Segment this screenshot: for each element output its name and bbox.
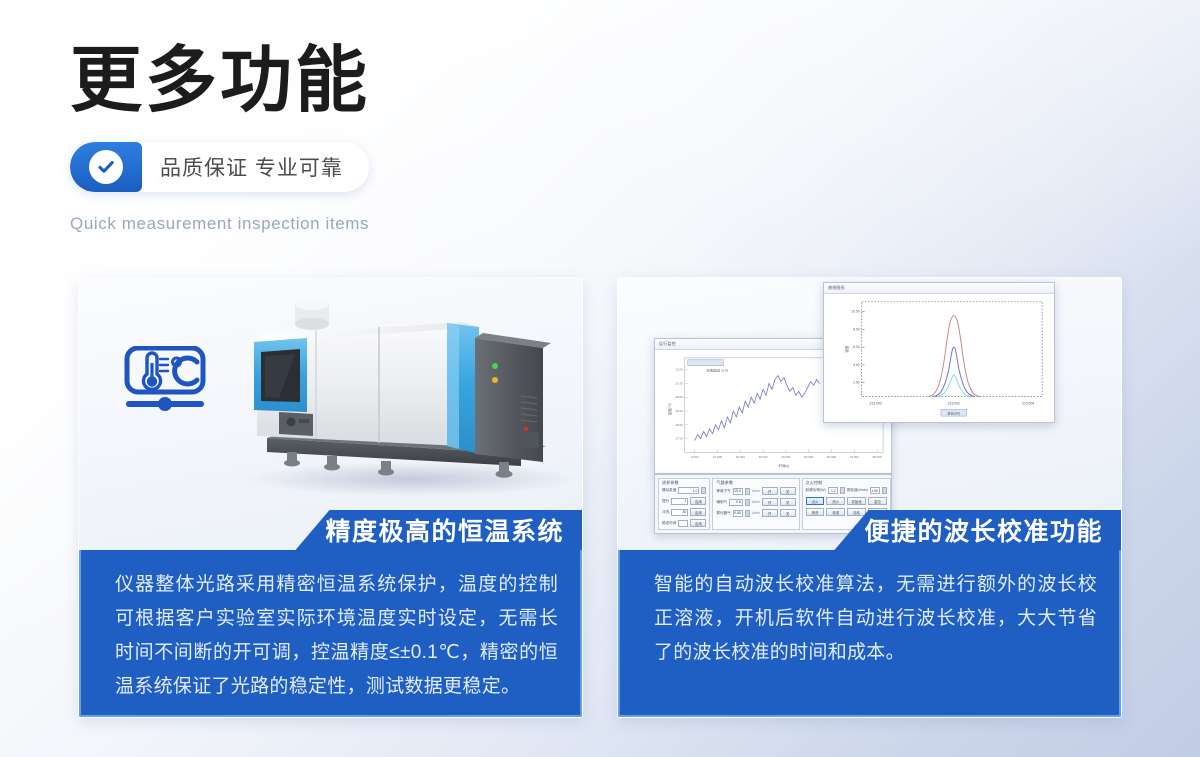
svg-text:20.00: 20.00 [675, 395, 683, 399]
svg-text:18.00: 18.00 [675, 423, 683, 427]
svg-text:2.00: 2.00 [853, 381, 860, 385]
svg-text:10.00: 10.00 [851, 310, 860, 314]
card-media-instrument [79, 278, 582, 510]
param-label: 蠕动泵速 [662, 488, 676, 493]
spinner-icon[interactable] [745, 499, 750, 506]
page-subtitle: Quick measurement inspection items [70, 214, 370, 234]
card-title-bar: 精度极高的恒温系统 [79, 510, 582, 550]
param-input[interactable]: 15.0 [733, 488, 743, 495]
feature-card-wavelength-calibration[interactable]: 运行监控 [617, 277, 1122, 718]
card-title-tab: 便捷的波长校准功能 [834, 510, 1121, 550]
param-unit: L/min [752, 489, 760, 493]
card-description: 智能的自动波长校准算法，无需进行额外的波长校正溶液，开机后软件自动进行波长校准，… [654, 568, 1097, 670]
svg-text:70.000: 70.000 [850, 455, 859, 459]
param-input[interactable]: 1.0 [678, 487, 699, 494]
spinner-icon[interactable] [745, 488, 750, 495]
card-title: 精度极高的恒温系统 [325, 512, 564, 548]
extinguish-button[interactable]: 熄火 [826, 497, 845, 505]
ignite-button[interactable]: 点火 [806, 497, 825, 505]
param-label: 泵转速(r/min) [847, 488, 868, 493]
param-input[interactable]: 1.2 [828, 487, 838, 494]
reset-button[interactable]: 复位 [868, 497, 887, 505]
page-header: 更多功能 品质保证 专业可靠 Quick measurement inspect… [70, 44, 370, 234]
group-title: 进样参数 [662, 480, 679, 486]
param-row[interactable]: 点火 熄火 初始化 复位 [806, 497, 887, 505]
param-row[interactable]: 射频功率(W) 1.2 泵转速(r/min) 1.50 [806, 487, 887, 494]
software-window-spectrum[interactable]: 谱线图形 10.008.00 [823, 282, 1055, 423]
card-title-tab: 精度极高的恒温系统 [295, 510, 582, 550]
card-title-bar: 便捷的波长校准功能 [618, 510, 1121, 550]
instrument-illustration [221, 286, 583, 502]
svg-text:50.000: 50.000 [804, 455, 813, 459]
badge-icon-block [70, 142, 142, 192]
spectrum-chart: 10.008.00 6.004.00 2.00 213.000 213.002 [824, 294, 1054, 422]
quality-badge: 品质保证 专业可靠 [70, 142, 369, 192]
thermometer-celsius-icon [123, 346, 207, 412]
param-row[interactable]: 提升 1 应用 [662, 497, 706, 505]
param-label: 等离子气 [716, 489, 730, 494]
param-label: 辅助气 [716, 500, 727, 505]
svg-text:17.00: 17.00 [675, 437, 683, 441]
param-label: 射频功率(W) [806, 488, 826, 493]
gas-on-button[interactable]: 开 [762, 487, 778, 495]
window-title: 运行监控 [659, 341, 676, 347]
feature-card-constant-temperature[interactable]: 精度极高的恒温系统 仪器整体光路采用精密恒温系统保护，温度的控制可根据客户实验室… [78, 277, 583, 718]
svg-text:213.004: 213.004 [1022, 401, 1034, 405]
svg-text:10.000: 10.000 [713, 455, 722, 459]
svg-text:40.000: 40.000 [781, 455, 790, 459]
gas-off-button[interactable]: 关 [780, 498, 796, 506]
param-label: 提升 [662, 499, 669, 504]
param-row[interactable]: 等离子气 15.0 L/min 开 关 [716, 487, 795, 495]
svg-text:时间(s): 时间(s) [779, 463, 790, 468]
param-row[interactable]: 蠕动泵速 1.0 [662, 487, 706, 494]
param-input[interactable]: 1 [671, 498, 688, 505]
svg-text:20.000: 20.000 [736, 455, 745, 459]
check-circle-icon [89, 150, 123, 184]
gas-off-button[interactable]: 关 [780, 487, 796, 495]
card-media-software: 运行监控 [618, 278, 1121, 510]
initialize-button[interactable]: 初始化 [847, 497, 866, 505]
card-description: 仪器整体光路采用精密恒温系统保护，温度的控制可根据客户实验室实际环境温度实时设定… [115, 568, 558, 704]
page-title: 更多功能 [70, 44, 370, 116]
apply-button[interactable]: 应用 [690, 497, 706, 505]
param-input[interactable]: 0.5 [729, 499, 743, 506]
svg-text:0.000: 0.000 [691, 455, 699, 459]
window-title: 谱线图形 [828, 285, 845, 291]
spinner-icon[interactable] [840, 487, 845, 494]
group-title: 点火控制 [806, 480, 823, 486]
svg-text:213.000: 213.000 [869, 401, 881, 405]
svg-text:8.00: 8.00 [853, 327, 860, 331]
svg-text:4.00: 4.00 [853, 363, 860, 367]
svg-text:80.000: 80.000 [873, 455, 882, 459]
param-unit: L/min [752, 500, 760, 504]
svg-text:60.000: 60.000 [827, 455, 836, 459]
gas-on-button[interactable]: 开 [762, 498, 778, 506]
card-body: 仪器整体光路采用精密恒温系统保护，温度的控制可根据客户实验室实际环境温度实时设定… [79, 550, 582, 717]
card-body: 智能的自动波长校准算法，无需进行额外的波长校正溶液，开机后软件自动进行波长校准，… [618, 550, 1121, 717]
feature-card-list: 精度极高的恒温系统 仪器整体光路采用精密恒温系统保护，温度的控制可根据客户实验室… [78, 277, 1122, 718]
svg-text:30.000: 30.000 [759, 455, 768, 459]
param-input[interactable]: 1.50 [870, 487, 880, 494]
group-title: 气路参数 [716, 480, 733, 486]
svg-text:强度: 强度 [844, 345, 849, 352]
spinner-icon[interactable] [882, 487, 887, 494]
card-title: 便捷的波长校准功能 [864, 512, 1103, 548]
svg-text:波长(nm): 波长(nm) [947, 411, 960, 416]
svg-text:温度(℃): 温度(℃) [667, 403, 672, 416]
svg-text:22.00: 22.00 [675, 368, 683, 372]
window-titlebar: 谱线图形 [824, 283, 1054, 294]
svg-text:6.00: 6.00 [853, 345, 860, 349]
svg-text:检测器温度 21.93: 检测器温度 21.93 [707, 369, 729, 373]
param-row[interactable]: 辅助气 0.5 L/min 开 关 [716, 498, 795, 506]
spinner-icon[interactable] [701, 487, 706, 494]
svg-text:21.00: 21.00 [675, 381, 683, 385]
badge-label: 品质保证 专业可靠 [142, 142, 369, 192]
svg-text:213.002: 213.002 [948, 401, 960, 405]
svg-text:19.00: 19.00 [675, 409, 683, 413]
